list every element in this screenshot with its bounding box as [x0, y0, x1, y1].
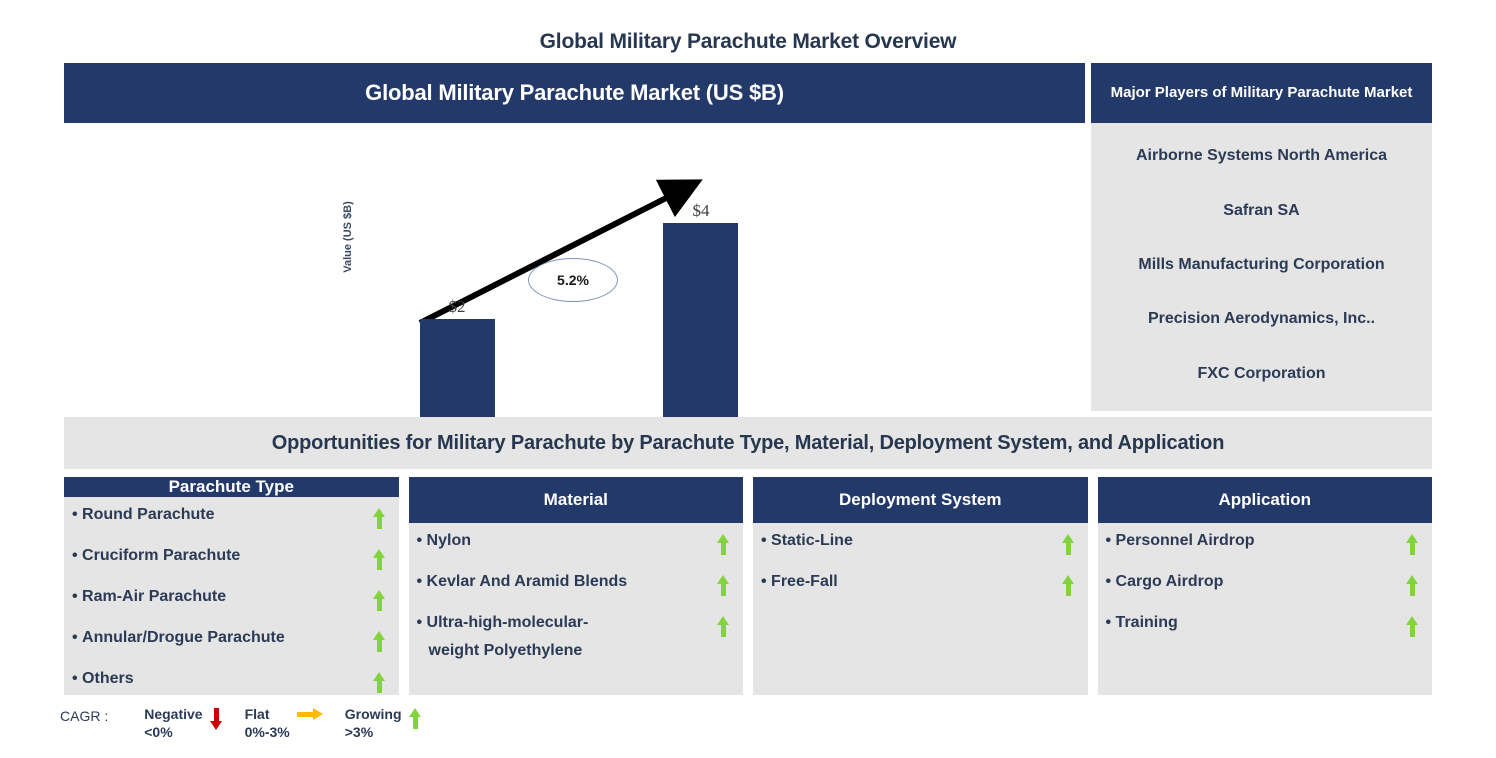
bar-2026 [420, 319, 495, 419]
trend-cell [1062, 574, 1076, 600]
list-item: • Round Parachute [72, 507, 387, 533]
trend-cell [373, 507, 387, 533]
legend-name: Growing [345, 706, 402, 724]
list-item-label: • Kevlar And Aramid Blends [417, 574, 718, 590]
arrow-up-icon [373, 549, 386, 570]
arrow-up-icon [409, 708, 422, 729]
list-item-label: • Others [72, 671, 373, 687]
trend-cell [1406, 615, 1420, 641]
legend-texts: Growing >3% [345, 706, 402, 742]
legend-icon-slot [203, 706, 229, 733]
legend-range: 0%-3% [245, 724, 290, 742]
list-item-label: • Cruciform Parachute [72, 548, 373, 564]
legend-entry-negative: Negative <0% [144, 706, 228, 742]
column-body: • Round Parachute • Cruciform Parachute … [64, 497, 399, 720]
list-item: • Annular/Drogue Parachute [72, 630, 387, 656]
list-item: Safran SA [1095, 202, 1428, 220]
list-item: • Ram-Air Parachute [72, 589, 387, 615]
trend-cell [1406, 533, 1420, 559]
legend-name: Negative [144, 706, 202, 724]
list-item-label: • Personnel Airdrop [1106, 533, 1407, 549]
list-item: FXC Corporation [1095, 365, 1428, 383]
list-item-label: • Training [1106, 615, 1407, 631]
chart-card-header: Global Military Parachute Market (US $B) [64, 63, 1085, 123]
column-application: Application • Personnel Airdrop • Cargo … [1098, 477, 1433, 695]
column-header: Deployment System [753, 477, 1088, 523]
opportunities-banner: Opportunities for Military Parachute by … [64, 417, 1432, 469]
list-item: Airborne Systems North America [1095, 147, 1428, 165]
trend-cell [373, 589, 387, 615]
column-header: Material [409, 477, 744, 523]
trend-cell [717, 533, 731, 559]
list-item-label: • Annular/Drogue Parachute [72, 630, 373, 646]
list-item-label: • Static-Line [761, 533, 1062, 549]
list-item-label: • Cargo Airdrop [1106, 574, 1407, 590]
arrow-up-icon [717, 616, 730, 637]
trend-cell [717, 574, 731, 600]
arrow-up-icon [717, 575, 730, 596]
chart-y-axis-label: Value (US $B) [342, 201, 354, 273]
trend-cell [373, 548, 387, 574]
arrow-up-icon [373, 590, 386, 611]
column-material: Material • Nylon • Kevlar And Aramid Ble… [409, 477, 744, 695]
list-item: • Others [72, 671, 387, 697]
cagr-legend-label: CAGR : [60, 706, 144, 724]
legend-range: <0% [144, 724, 202, 742]
legend-entry-growing: Growing >3% [345, 706, 428, 742]
major-players-card: Major Players of Military Parachute Mark… [1091, 63, 1432, 411]
opportunity-columns: Parachute Type • Round Parachute • Cruci… [64, 477, 1432, 695]
trend-cell [717, 615, 731, 641]
major-players-header: Major Players of Military Parachute Mark… [1091, 63, 1432, 123]
column-body: • Personnel Airdrop • Cargo Airdrop • Tr… [1098, 523, 1433, 695]
legend-name: Flat [245, 706, 290, 724]
legend-texts: Negative <0% [144, 706, 202, 742]
list-item-label: • Ultra-high-molecular-weight Polyethyle… [417, 615, 718, 659]
list-item: • Ultra-high-molecular-weight Polyethyle… [417, 615, 732, 659]
major-players-list: Airborne Systems North America Safran SA… [1091, 123, 1432, 411]
legend-entry-flat: Flat 0%-3% [245, 706, 329, 742]
column-body: • Static-Line • Free-Fall [753, 523, 1088, 695]
legend-texts: Flat 0%-3% [245, 706, 290, 742]
arrow-up-icon [1406, 534, 1419, 555]
list-item-label: • Round Parachute [72, 507, 373, 523]
arrow-up-icon [1406, 575, 1419, 596]
list-item: • Kevlar And Aramid Blends [417, 574, 732, 600]
column-deployment-system: Deployment System • Static-Line • Free-F… [753, 477, 1088, 695]
list-item: Precision Aerodynamics, Inc.. [1095, 310, 1428, 328]
arrow-up-icon [1406, 616, 1419, 637]
list-item-label: • Nylon [417, 533, 718, 549]
column-header: Parachute Type [64, 477, 399, 497]
arrow-up-icon [717, 534, 730, 555]
list-item: • Training [1106, 615, 1421, 641]
bar-2035 [663, 223, 738, 419]
list-item: • Nylon [417, 533, 732, 559]
list-item: • Static-Line [761, 533, 1076, 559]
trend-cell [1062, 533, 1076, 559]
column-body: • Nylon • Kevlar And Aramid Blends • Ult… [409, 523, 744, 695]
list-item: Mills Manufacturing Corporation [1095, 256, 1428, 274]
trend-cell [373, 671, 387, 697]
trend-cell [1406, 574, 1420, 600]
arrow-right-icon [297, 708, 323, 721]
legend-icon-slot [290, 706, 329, 724]
list-item: • Free-Fall [761, 574, 1076, 600]
list-item-label: • Free-Fall [761, 574, 1062, 590]
list-item-label: • Ram-Air Parachute [72, 589, 373, 605]
cagr-legend: CAGR : Negative <0% Flat 0%-3% Growing >… [60, 706, 444, 742]
arrow-up-icon [1062, 534, 1075, 555]
column-parachute-type: Parachute Type • Round Parachute • Cruci… [64, 477, 399, 695]
arrow-up-icon [1062, 575, 1075, 596]
arrow-up-icon [373, 631, 386, 652]
market-chart-card: Global Military Parachute Market (US $B)… [64, 63, 1085, 411]
column-header: Application [1098, 477, 1433, 523]
arrow-up-icon [373, 508, 386, 529]
list-item: • Cargo Airdrop [1106, 574, 1421, 600]
list-item: • Cruciform Parachute [72, 548, 387, 574]
bar-value-2026: $2 [417, 297, 497, 317]
legend-icon-slot [402, 706, 428, 732]
bar-value-2035: $4 [661, 201, 741, 221]
arrow-up-icon [373, 672, 386, 693]
list-item-label-line2: weight Polyethylene [417, 643, 710, 659]
arrow-down-icon [210, 708, 223, 730]
list-item: • Personnel Airdrop [1106, 533, 1421, 559]
trend-cell [373, 630, 387, 656]
chart-plot-area: Value (US $B) 5.2% $2 $4 2026 2035 Sourc… [64, 123, 1085, 411]
page-title: Global Military Parachute Market Overvie… [0, 30, 1496, 54]
legend-range: >3% [345, 724, 402, 742]
cagr-bubble: 5.2% [528, 258, 618, 302]
